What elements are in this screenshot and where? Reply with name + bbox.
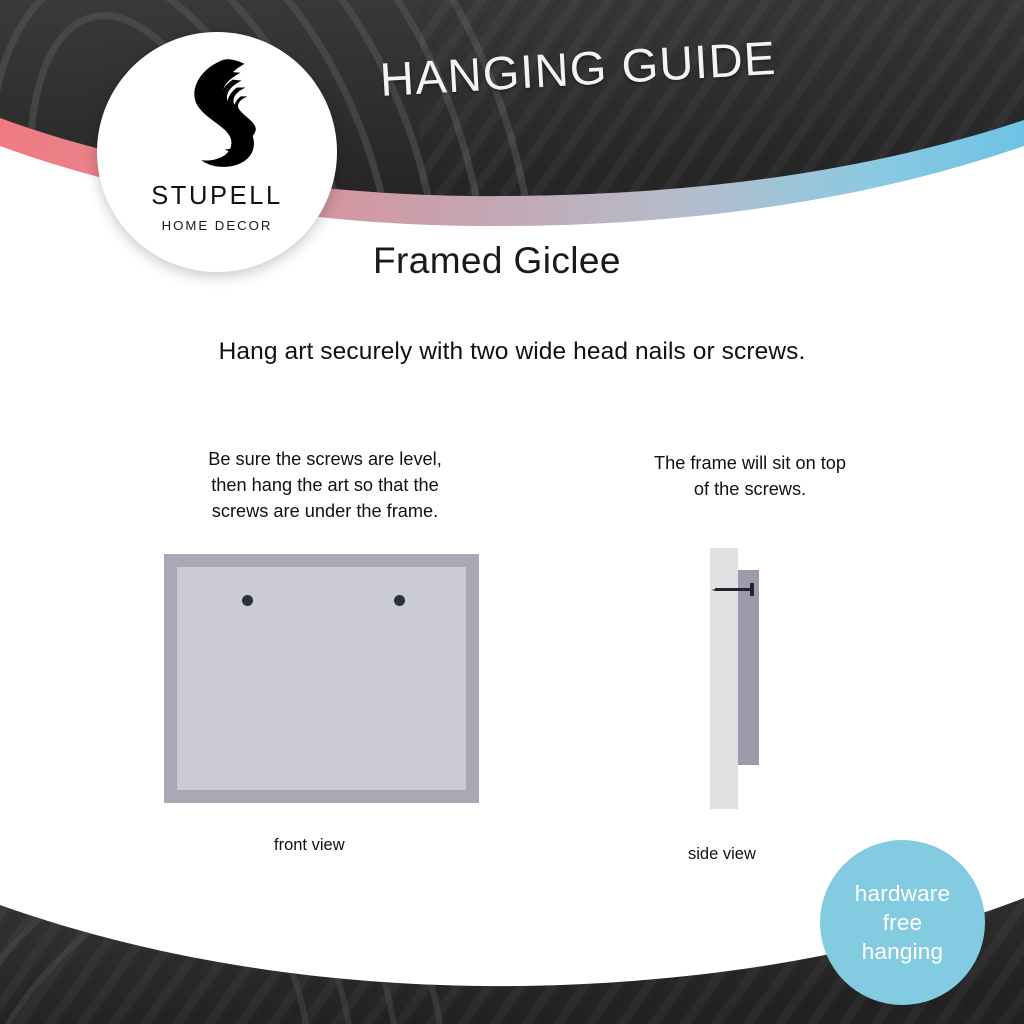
nail-head-icon: [750, 583, 754, 596]
product-name: Framed Giclee: [373, 240, 621, 282]
stupell-swoosh-logo-icon: [158, 54, 276, 182]
screw-head-left-icon: [242, 595, 253, 606]
badge-line-3: hanging: [862, 937, 943, 966]
side-view-caption: The frame will sit on top of the screws.: [585, 450, 915, 502]
brand-logo-badge: STUPELL HOME DECOR: [97, 32, 337, 272]
side-view-frame: [738, 570, 759, 765]
brand-tagline: HOME DECOR: [162, 219, 273, 232]
front-view-caption-line-2: then hang the art so that the: [160, 472, 490, 498]
front-view-frame-diagram: [164, 554, 479, 803]
side-view-caption-line-2: of the screws.: [585, 476, 915, 502]
lead-instruction: Hang art securely with two wide head nai…: [0, 338, 1024, 366]
hanging-guide-page: STUPELL HOME DECOR HANGING GUIDE Framed …: [0, 0, 1024, 1024]
brand-name: STUPELL: [151, 184, 283, 210]
front-view-mat: [177, 567, 466, 790]
front-view-caption: Be sure the screws are level, then hang …: [160, 446, 490, 524]
side-view-caption-line-1: The frame will sit on top: [585, 450, 915, 476]
side-view-label: side view: [688, 845, 756, 864]
front-view-caption-line-1: Be sure the screws are level,: [160, 446, 490, 472]
screw-head-right-icon: [394, 595, 405, 606]
nail-shaft-icon: [715, 588, 753, 591]
front-view-caption-line-3: screws are under the frame.: [160, 498, 490, 524]
badge-line-2: free: [883, 908, 923, 937]
hardware-free-hanging-badge: hardware free hanging: [820, 840, 985, 1005]
badge-line-1: hardware: [855, 879, 950, 908]
front-view-label: front view: [274, 836, 345, 855]
page-title: HANGING GUIDE: [378, 30, 777, 107]
